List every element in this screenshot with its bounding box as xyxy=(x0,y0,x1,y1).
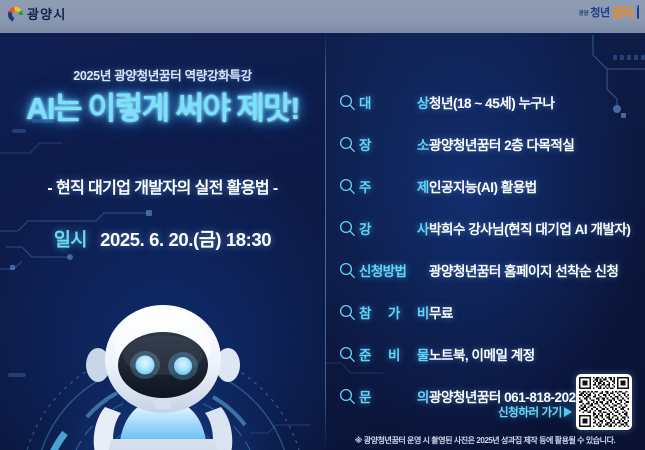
event-kicker: 2025년 광양청년꿈터 역량강화특강 xyxy=(0,65,325,84)
info-label-topic: 주제 xyxy=(359,176,429,196)
play-triangle-icon xyxy=(564,407,572,417)
magnifier-icon xyxy=(339,136,356,153)
youth-center-brand-logo[interactable]: 광양 청년 꿈터 xyxy=(579,5,639,19)
event-title: AI는 이렇게 써야 제맛! xyxy=(0,86,325,132)
info-label-howtoapply: 신청방법 xyxy=(359,260,429,280)
qr-code-icon xyxy=(579,377,629,427)
event-datetime: 일시2025. 6. 20.(금) 18:30 xyxy=(0,226,325,252)
info-label-location: 장소 xyxy=(359,134,429,154)
info-row-topic: 주제 인공지능(AI) 활용법 xyxy=(339,175,537,197)
magnifier-icon xyxy=(339,304,356,321)
apply-cta-label: 신청하러 가기 xyxy=(498,404,562,420)
info-value-fee: 무료 xyxy=(429,302,453,322)
magnifier-icon xyxy=(339,346,356,363)
datetime-value: 2025. 6. 20.(금) 18:30 xyxy=(100,229,271,250)
info-value-instructor: 박희수 강사님(현직 대기업 AI 개발자) xyxy=(429,218,630,238)
info-value-topic: 인공지능(AI) 활용법 xyxy=(429,176,537,196)
info-row-bring: 준비물 노트북, 이메일 계정 xyxy=(339,343,535,365)
poster-root: 2025년 광양청년꿈터 역량강화특강 AI는 이렇게 써야 제맛! - 현직 … xyxy=(0,0,645,450)
event-subtitle: - 현직 대기업 개발자의 실전 활용법 - xyxy=(0,174,325,198)
brand-dot-icon xyxy=(635,5,638,8)
magnifier-icon xyxy=(339,388,356,405)
info-row-howtoapply: 신청방법 광양청년꿈터 홈페이지 선착순 신청 xyxy=(339,259,618,281)
info-row-instructor: 강사 박희수 강사님(현직 대기업 AI 개발자) xyxy=(339,217,630,239)
magnifier-icon xyxy=(339,94,356,111)
city-logo-label: 광양시 xyxy=(27,7,66,22)
panel-divider xyxy=(325,33,326,450)
apply-cta[interactable]: 신청하러 가기 xyxy=(498,404,572,420)
info-row-target: 대상 청년(18 ~ 45세) 누구나 xyxy=(339,91,554,113)
info-label-instructor: 강사 xyxy=(359,218,429,238)
info-label-fee: 참가비 xyxy=(359,302,429,322)
robot-mascot-icon xyxy=(75,303,251,450)
info-label-contact: 문의 xyxy=(359,386,429,406)
left-panel: 2025년 광양청년꿈터 역량강화특강 AI는 이렇게 써야 제맛! - 현직 … xyxy=(0,33,325,450)
info-value-howtoapply: 광양청년꿈터 홈페이지 선착순 신청 xyxy=(429,260,618,280)
info-value-bring: 노트북, 이메일 계정 xyxy=(429,344,535,364)
magnifier-icon xyxy=(339,262,356,279)
city-logo[interactable]: 광양시 xyxy=(8,7,66,22)
info-label-target: 대상 xyxy=(359,92,429,112)
info-label-bring: 준비물 xyxy=(359,344,429,364)
brand-blue-label: 청년 xyxy=(590,7,609,19)
brand-orange-label: 꿈터 xyxy=(612,7,634,19)
info-value-contact: 광양청년꿈터 061-818-2020 xyxy=(429,386,583,406)
info-row-location: 장소 광양청년꿈터 2층 다목적실 xyxy=(339,133,574,155)
magnifier-icon xyxy=(339,220,356,237)
qr-code[interactable] xyxy=(576,374,632,430)
header-bar: 광양시 광양 청년 꿈터 xyxy=(0,0,645,33)
gwangyang-ci-mark-icon xyxy=(8,7,23,22)
datetime-label: 일시 xyxy=(54,229,87,250)
info-value-target: 청년(18 ~ 45세) 누구나 xyxy=(429,92,554,112)
footer-note: ※ 광양청년꿈터 운영 시 촬영된 사진은 2025년 성과집 제작 등에 활용… xyxy=(325,435,645,446)
magnifier-icon xyxy=(339,178,356,195)
info-value-location: 광양청년꿈터 2층 다목적실 xyxy=(429,134,574,154)
brand-small-label: 광양 xyxy=(579,10,589,19)
info-row-fee: 참가비 무료 xyxy=(339,301,453,323)
